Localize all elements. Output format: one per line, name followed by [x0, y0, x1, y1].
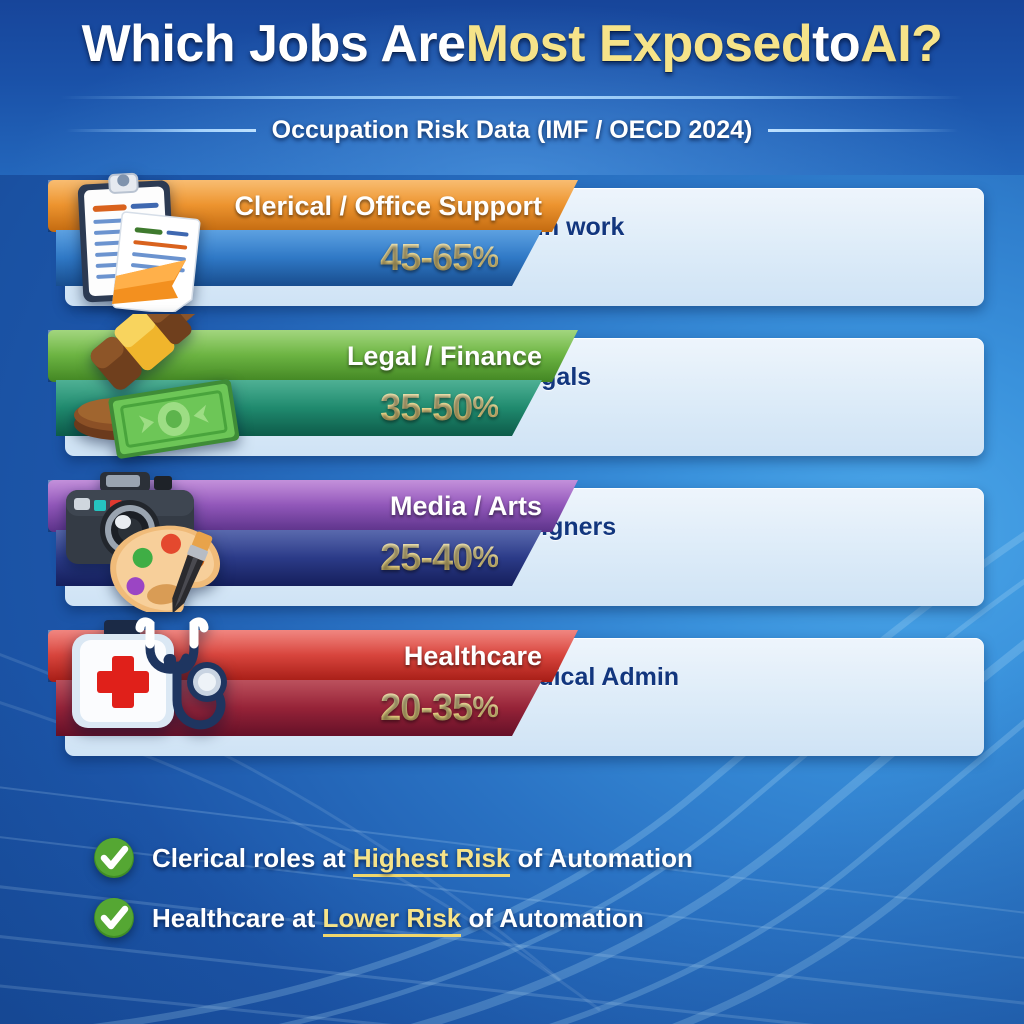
row-percent-band: 45-65%	[56, 230, 542, 286]
footer-post: of Automation	[510, 843, 692, 873]
row-category-label: Healthcare	[48, 630, 542, 682]
risk-row[interactable]: Diagnostics, Medical Admin Healthcare 20…	[48, 618, 984, 758]
row-percent-value: 35-50%	[56, 380, 498, 436]
row-category-banner: Media / Arts	[48, 480, 578, 532]
row-percent-range: 25-40	[380, 537, 472, 580]
row-percent-range: 20-35	[380, 687, 472, 730]
footer-pre: Healthcare at	[152, 903, 323, 933]
row-percent-range: 45-65	[380, 237, 472, 280]
row-category-banner: Healthcare	[48, 630, 578, 682]
risk-row[interactable]: Journalists, Designers Media / Arts 25-4…	[48, 468, 984, 608]
row-percent-symbol: %	[472, 541, 498, 575]
row-percent-value: 25-40%	[56, 530, 498, 586]
title-part-3: AI?	[860, 14, 942, 74]
footer-note: Healthcare at Lower Risk of Automation	[92, 896, 644, 940]
risk-row[interactable]: Data entry, Admin work Clerical / Office…	[48, 168, 984, 308]
check-circle-icon	[92, 836, 136, 880]
subtitle-row: Occupation Risk Data (IMF / OECD 2024)	[0, 116, 1024, 145]
row-percent-symbol: %	[472, 691, 498, 725]
footer-highlight: Lower Risk	[323, 903, 462, 937]
subtitle-divider-left	[66, 129, 256, 132]
row-category-label: Media / Arts	[48, 480, 542, 532]
title-part-0: Which Jobs Are	[82, 14, 466, 74]
page-title: Which Jobs Are Most Exposed to AI?	[0, 14, 1024, 74]
footer-note: Clerical roles at Highest Risk of Automa…	[92, 836, 693, 880]
row-category-label: Clerical / Office Support	[48, 180, 542, 232]
row-percent-band: 35-50%	[56, 380, 542, 436]
footer-highlight: Highest Risk	[353, 843, 511, 877]
subtitle-divider-right	[768, 129, 958, 132]
row-category-banner: Clerical / Office Support	[48, 180, 578, 232]
title-part-2: to	[812, 14, 860, 74]
footer-pre: Clerical roles at	[152, 843, 353, 873]
row-percent-value: 45-65%	[56, 230, 498, 286]
row-percent-range: 35-50	[380, 387, 472, 430]
title-part-1: Most Exposed	[466, 14, 813, 74]
footer-post: of Automation	[461, 903, 643, 933]
row-percent-band: 25-40%	[56, 530, 542, 586]
risk-row[interactable]: Analysts, Paralegals Legal / Finance 35-…	[48, 318, 984, 458]
title-divider	[60, 96, 964, 99]
footer-text: Clerical roles at Highest Risk of Automa…	[152, 843, 693, 874]
row-category-label: Legal / Finance	[48, 330, 542, 382]
row-category-banner: Legal / Finance	[48, 330, 578, 382]
row-percent-value: 20-35%	[56, 680, 498, 736]
row-percent-symbol: %	[472, 241, 498, 275]
footer-text: Healthcare at Lower Risk of Automation	[152, 903, 644, 934]
row-percent-symbol: %	[472, 391, 498, 425]
check-circle-icon	[92, 896, 136, 940]
page-subtitle: Occupation Risk Data (IMF / OECD 2024)	[272, 116, 753, 145]
row-percent-band: 20-35%	[56, 680, 542, 736]
